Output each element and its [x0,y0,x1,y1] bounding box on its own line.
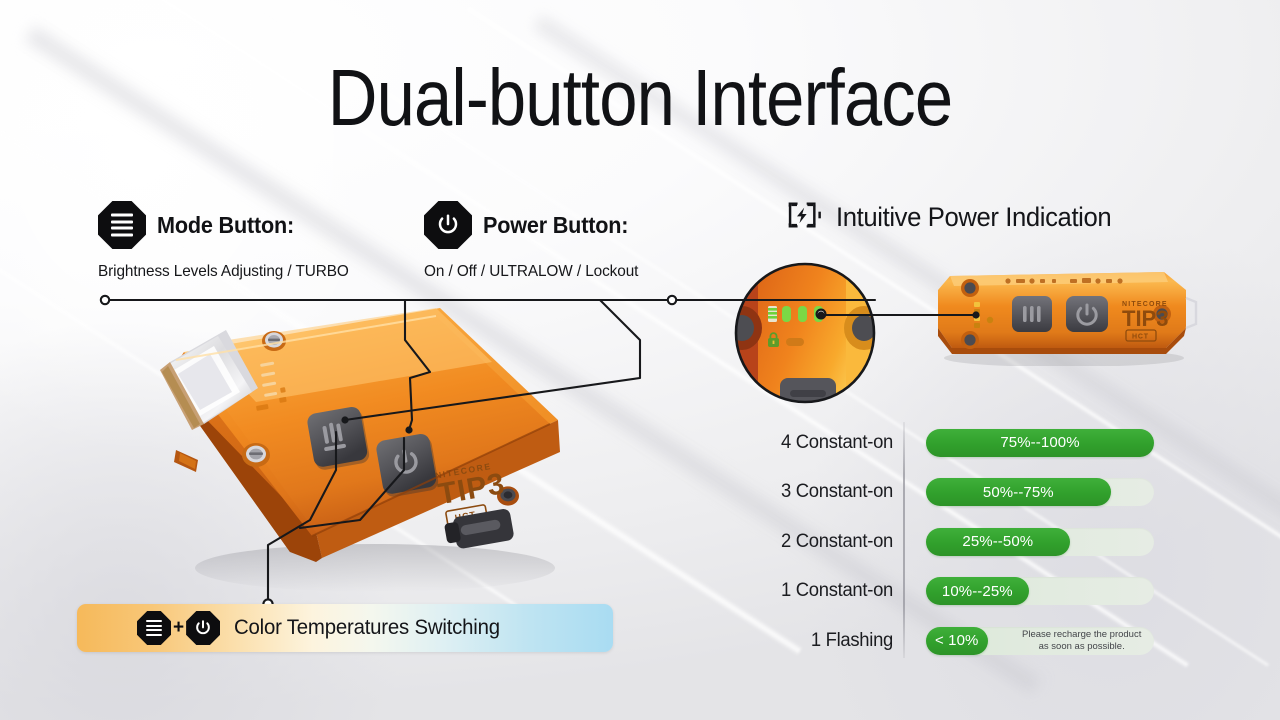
recharge-note: Please recharge the product as soon as p… [1022,627,1141,655]
power-row-fill: 25%--50% [926,528,1070,556]
feature-power-title: Power Button: [483,212,628,239]
table-row: 1 Constant-on 10%--25% [745,567,1165,617]
svg-text:TIP3: TIP3 [1122,306,1168,331]
banner-label: Color Temperatures Switching [234,616,500,640]
banner-icon-group: + [137,611,220,645]
svg-text:HCT: HCT [1132,334,1149,341]
power-octagon-icon [424,201,472,249]
table-divider [903,422,905,658]
feature-mode-button: Mode Button: Brightness Levels Adjusting… [98,201,359,281]
product-image-flashlight-angled: NITECORE TIP3 HCT [140,300,580,600]
power-row-fill: 75%--100% [926,429,1154,457]
power-row-label: 1 Constant-on [749,580,893,602]
power-indication-header: Intuitive Power Indication [786,202,1126,233]
power-indication-table: 4 Constant-on 75%--100% 3 Constant-on 50… [745,418,1165,666]
power-row-track: 75%--100% [926,429,1154,457]
feature-power-header: Power Button: [424,201,647,249]
power-row-track: 50%--75% [926,478,1154,506]
power-row-fill: 10%--25% [926,577,1029,605]
power-octagon-icon [186,611,220,645]
power-row-label: 4 Constant-on [749,432,893,454]
feature-mode-title: Mode Button: [157,212,294,239]
feature-power-button: Power Button: On / Off / ULTRALOW / Lock… [424,201,647,281]
table-row: 2 Constant-on 25%--50% [745,517,1165,567]
power-row-label: 3 Constant-on [749,481,893,503]
color-temperature-banner: + Color Temperatures Switching [77,604,613,652]
mode-octagon-icon [98,201,146,249]
mode-octagon-icon [137,611,171,645]
magnified-led-indicator-callout [728,260,883,406]
page-title: Dual-button Interface [90,58,1191,138]
table-row: 4 Constant-on 75%--100% [745,418,1165,468]
feature-mode-header: Mode Button: [98,201,359,249]
power-row-fill: 50%--75% [926,478,1111,506]
power-row-fill: < 10% [926,627,988,655]
feature-power-subtitle: On / Off / ULTRALOW / Lockout [424,263,638,281]
battery-charging-icon [786,202,822,233]
product-image-flashlight-top: NITECORE TIP3 HCT [930,262,1198,366]
power-row-track: < 10% Please recharge the product as soo… [926,627,1154,655]
power-row-label: 1 Flashing [749,630,893,652]
recharge-note-line1: Please recharge the product [1022,629,1141,641]
power-row-value: < 10% [935,632,978,649]
table-row: 1 Flashing < 10% Please recharge the pro… [745,616,1165,666]
power-row-label: 2 Constant-on [749,531,893,553]
banner-plus-sign: + [173,617,184,639]
power-row-value: 50%--75% [983,484,1054,501]
feature-mode-subtitle: Brightness Levels Adjusting / TURBO [98,263,349,281]
power-row-value: 75%--100% [1000,434,1079,451]
power-row-value: 25%--50% [962,533,1033,550]
table-row: 3 Constant-on 50%--75% [745,468,1165,518]
power-indication-heading: Intuitive Power Indication [836,202,1111,233]
power-row-track: 25%--50% [926,528,1154,556]
recharge-note-line2: as soon as possible. [1039,641,1125,653]
power-row-value: 10%--25% [942,583,1013,600]
power-row-track: 10%--25% [926,577,1154,605]
